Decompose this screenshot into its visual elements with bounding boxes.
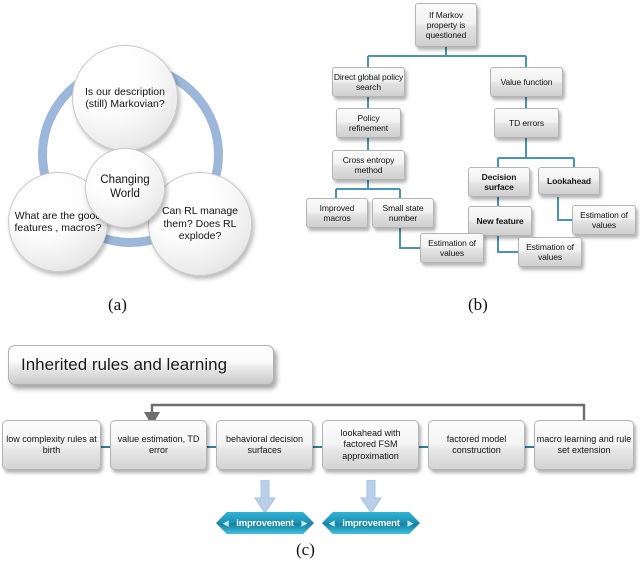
node-estimation-of-values-smallstate[interactable]: Estimation of values [420,233,484,263]
bubble-markov-label: Is our description (still) Markovian? [73,86,177,111]
stage-4-label: lookahead with factored FSM approximatio… [323,428,418,462]
bubble-features-label: What are the good features , macros? [9,210,107,235]
panel-b-tree-diagram: If Markov property is questioned Direct … [320,0,640,300]
bubble-markov[interactable]: Is our description (still) Markovian? [72,45,178,151]
node-root[interactable]: If Markov property is questioned [415,3,477,47]
node-root-label: If Markov property is questioned [416,10,476,41]
node-value-function[interactable]: Value function [490,67,563,97]
stage-2-label: value estimation, TD error [111,434,206,457]
node-direct-label: Direct global policy search [333,72,404,92]
node-new-feature[interactable]: New feature [468,206,532,236]
node-impmacros-label: Improved macros [307,203,367,223]
chevron-right-icon: ▸ [408,517,413,530]
stage-behavioral-decision-surfaces[interactable]: behavioral decision surfaces [216,420,313,470]
stage-3-label: behavioral decision surfaces [217,434,312,457]
down-arrow-icon-2 [360,480,382,514]
node-valuefn-label: Value function [501,77,553,87]
stage-1-label: low complexity rules at birth [3,434,100,457]
improvement-badge-2[interactable]: ◂ improvement ▸ [322,512,420,534]
stage-6-label: macro learning and rule set extension [535,434,633,457]
node-decsurface-label: Decision surface [469,172,529,192]
node-smallstate-label: Small state number [373,203,433,223]
stage-macro-learning-rule-extension[interactable]: macro learning and rule set extension [534,420,634,470]
improvement-2-label: improvement [342,518,399,529]
node-direct-global-policy-search[interactable]: Direct global policy search [332,67,405,97]
node-tderrors-label: TD errors [509,118,544,128]
improvement-1-label: improvement [236,518,293,529]
panel-a-circle-diagram: Is our description (still) Markovian? Wh… [0,0,320,300]
node-td-errors[interactable]: TD errors [494,108,559,138]
chevron-left-icon: ◂ [329,517,334,530]
panel-c-pipeline-diagram: Inherited rules and learning low complex… [0,300,640,572]
node-est-small-label: Estimation of values [421,238,483,258]
stage-lookahead-factored-fsm[interactable]: lookahead with factored FSM approximatio… [322,420,419,470]
node-decision-surface[interactable]: Decision surface [468,167,530,197]
stage-5-label: factored model construction [429,434,524,457]
bubble-center-label: Changing World [86,174,164,201]
node-estimation-of-values-lookahead[interactable]: Estimation of values [572,205,636,235]
stage-factored-model-construction[interactable]: factored model construction [428,420,525,470]
node-crossent-label: Cross entropy method [333,155,404,175]
node-small-state-number[interactable]: Small state number [372,198,434,228]
stage-low-complexity-rules[interactable]: low complexity rules at birth [2,420,101,470]
node-cross-entropy-method[interactable]: Cross entropy method [332,150,405,180]
node-est-look-label: Estimation of values [573,210,635,230]
node-lookahead-label: Lookahead [547,176,591,186]
bubble-rl-label: Can RL manage them? Does RL explode? [149,205,251,242]
node-lookahead[interactable]: Lookahead [538,167,600,195]
stage-value-estimation[interactable]: value estimation, TD error [110,420,207,470]
node-policyref-label: Policy refinement [337,113,400,133]
node-improved-macros[interactable]: Improved macros [306,198,368,228]
chevron-right-icon: ▸ [302,517,307,530]
bubble-changing-world[interactable]: Changing World [85,148,165,228]
node-newfeature-label: New feature [476,216,523,226]
caption-c: (c) [296,540,315,560]
node-est-newf-label: Estimation of values [519,242,581,262]
node-estimation-of-values-newfeature[interactable]: Estimation of values [518,237,582,267]
chevron-left-icon: ◂ [223,517,228,530]
improvement-badge-1[interactable]: ◂ improvement ▸ [216,512,314,534]
down-arrow-icon-1 [254,480,276,514]
node-policy-refinement[interactable]: Policy refinement [336,108,401,138]
